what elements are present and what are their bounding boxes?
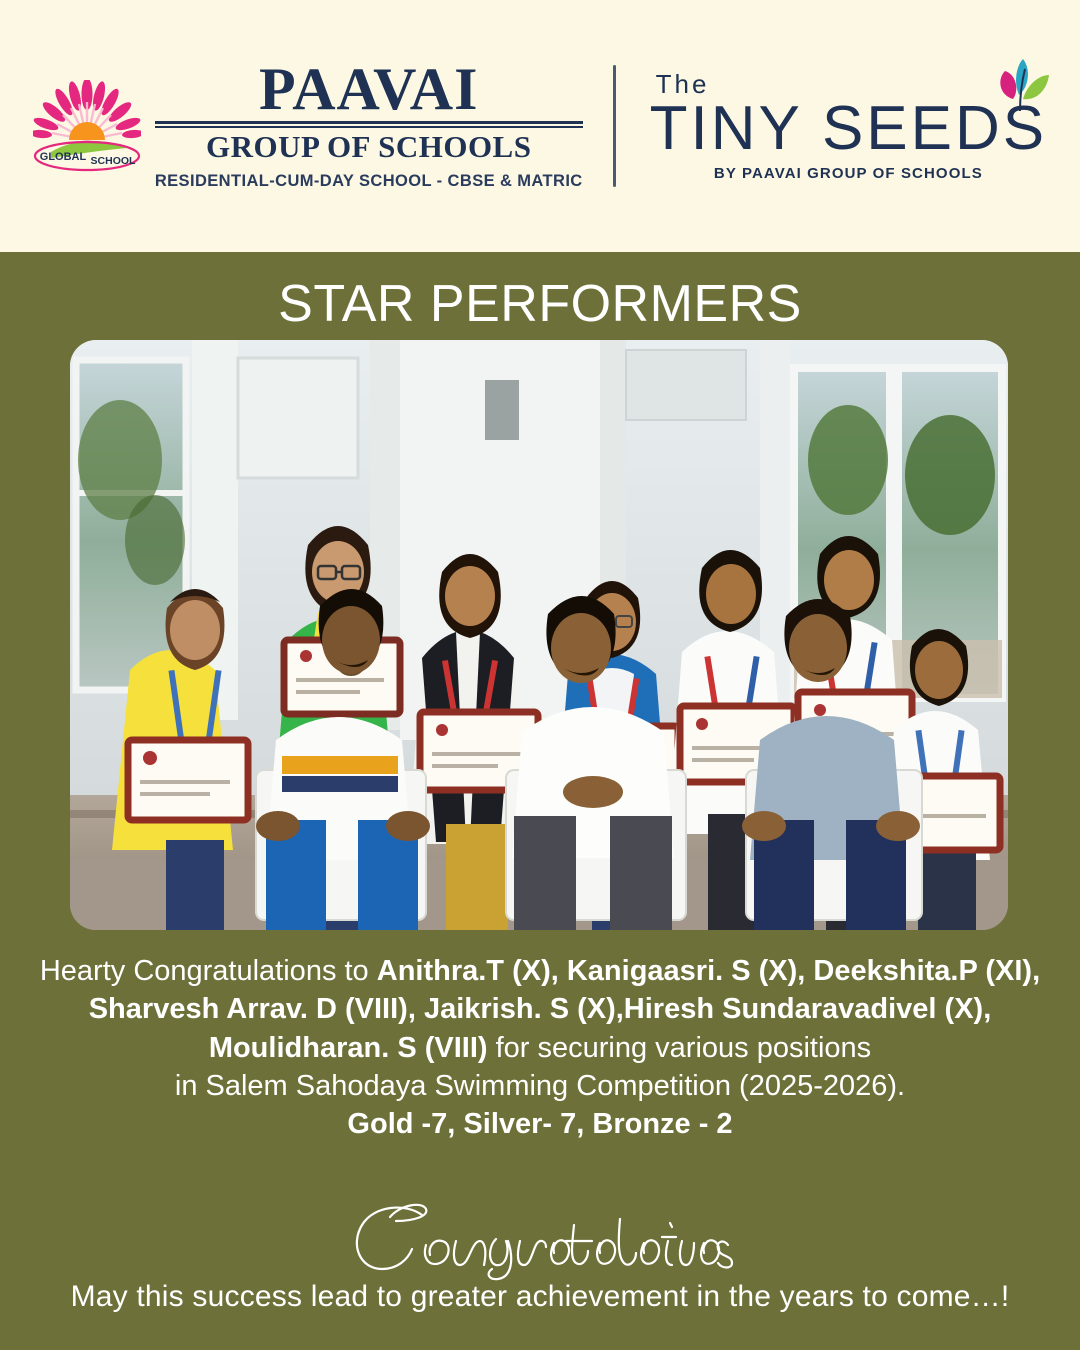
tiny-seeds-wordmark: TINY SEEDS	[650, 98, 1048, 160]
caption-line-2: Sharvesh Arrav. D (VIII), Jaikrish. S (X…	[0, 990, 1080, 1028]
star-performers-group-photo	[70, 340, 1008, 930]
page-title: STAR PERFORMERS	[0, 252, 1080, 334]
congratulations-script-text	[0, 1197, 1080, 1288]
poster-body: STAR PERFORMERS	[0, 252, 1080, 1350]
caption-medal-counts: Gold -7, Silver- 7, Bronze - 2	[0, 1105, 1080, 1143]
emblem-global-text: GLOBAL	[40, 151, 87, 163]
caption-line-4: in Salem Sahodaya Swimming Competition (…	[0, 1067, 1080, 1105]
caption-names-3: Moulidharan. S (VIII)	[209, 1032, 488, 1064]
congratulations-caption: Hearty Congratulations to Anithra.T (X),…	[0, 952, 1080, 1143]
paavai-wordmark: PAAVAI	[259, 61, 478, 118]
caption-rest: for securing various positions	[488, 1032, 872, 1064]
poster-header: GLOBAL SCHOOL PAAVAI GROUP OF SCHOOLS RE…	[0, 0, 1080, 252]
caption-line-3: Moulidharan. S (VIII) for securing vario…	[0, 1029, 1080, 1067]
closing-wish: May this success lead to greater achieve…	[0, 1280, 1080, 1314]
header-divider	[613, 65, 616, 187]
caption-line-1: Hearty Congratulations to Anithra.T (X),…	[0, 952, 1080, 990]
tiny-seeds-byline: BY PAAVAI GROUP OF SCHOOLS	[714, 165, 983, 182]
tiny-seeds-logo: The TINY SEEDS BY PAAVAI GROUP OF SCHOOL…	[650, 69, 1048, 182]
paavai-lotus-sunburst-emblem-icon: GLOBAL SCHOOL	[33, 80, 141, 172]
paavai-group-label: GROUP OF SCHOOLS	[206, 129, 532, 166]
paavai-subtitle: RESIDENTIAL-CUM-DAY SCHOOL - CBSE & MATR…	[155, 172, 583, 191]
emblem-school-text: SCHOOL	[90, 155, 136, 167]
paavai-group-of-schools-logo: GLOBAL SCHOOL PAAVAI GROUP OF SCHOOLS RE…	[33, 61, 583, 192]
caption-names-2: Sharvesh Arrav. D (VIII), Jaikrish. S (X…	[89, 993, 992, 1025]
congratulations-script-svg	[330, 1197, 750, 1283]
caption-names-1: Anithra.T (X), Kanigaasri. S (X), Deeksh…	[377, 955, 1040, 987]
caption-lead: Hearty Congratulations to	[40, 955, 377, 987]
